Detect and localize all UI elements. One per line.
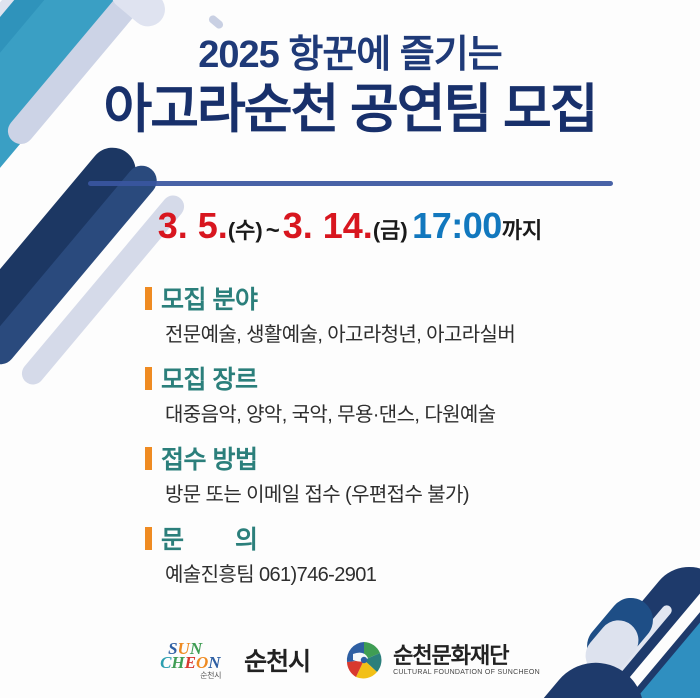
period-start-date: 3. 5. xyxy=(158,205,228,246)
suncheon-wordmark-icon: SUN CHEON 순천시 xyxy=(160,638,238,682)
title-line-1: 2025 항꾼에 즐기는 xyxy=(0,34,700,78)
section-title: 모집 장르 xyxy=(161,360,257,396)
section-header: 모집 분야 xyxy=(145,283,515,313)
suncheon-city-logo: SUN CHEON 순천시 순천시 xyxy=(160,638,310,682)
section-recruit-field: 모집 분야 전문예술, 생활예술, 아고라청년, 아고라실버 xyxy=(145,283,515,347)
section-recruit-genre: 모집 장르 대중음악, 양악, 국악, 무용·댄스, 다원예술 xyxy=(145,363,515,427)
bullet-bar-icon xyxy=(145,367,152,390)
foundation-name-en: CULTURAL FOUNDATION OF SUNCHEON xyxy=(393,669,540,676)
decoration-top-dash xyxy=(207,14,224,30)
section-contact: 문 의 예술진흥팀 061)746-2901 xyxy=(145,523,515,587)
section-header: 문 의 xyxy=(145,523,515,553)
period-end-date: 3. 14. xyxy=(283,205,373,246)
decoration-top-blob xyxy=(104,0,172,33)
section-header: 접수 방법 xyxy=(145,443,515,473)
section-header: 모집 장르 xyxy=(145,363,515,393)
section-body: 방문 또는 이메일 접수 (우편접수 불가) xyxy=(165,478,515,507)
section-body: 대중음악, 양악, 국악, 무용·댄스, 다원예술 xyxy=(165,398,515,427)
section-title: 문 의 xyxy=(161,520,280,556)
period-end-day: (금) xyxy=(373,218,408,243)
stripe-navy-2 xyxy=(0,160,163,371)
section-body: 예술진흥팀 061)746-2901 xyxy=(165,558,515,587)
foundation-name-kr: 순천문화재단 xyxy=(393,644,540,667)
footer-logos: SUN CHEON 순천시 순천시 xyxy=(0,638,700,682)
suncheon-foundation-logo: 순천문화재단 CULTURAL FOUNDATION OF SUNCHEON xyxy=(344,640,540,680)
poster-canvas: 2025 항꾼에 즐기는 아고라순천 공연팀 모집 3. 5.(수)~3. 14… xyxy=(0,0,700,698)
section-title: 모집 분야 xyxy=(161,280,257,316)
stripe-navy-1 xyxy=(0,138,145,397)
bullet-bar-icon xyxy=(145,527,152,550)
period-deadline-suffix: 까지 xyxy=(502,218,542,243)
application-period: 3. 5.(수)~3. 14.(금) 17:00까지 xyxy=(0,205,700,247)
period-tilde: ~ xyxy=(263,217,283,244)
section-title: 접수 방법 xyxy=(161,440,257,476)
foundation-name-block: 순천문화재단 CULTURAL FOUNDATION OF SUNCHEON xyxy=(393,644,540,676)
bullet-bar-icon xyxy=(145,287,152,310)
period-deadline-time: 17:00 xyxy=(412,205,502,246)
section-application-method: 접수 방법 방문 또는 이메일 접수 (우편접수 불가) xyxy=(145,443,515,507)
title-divider xyxy=(88,181,613,186)
poster-title: 2025 항꾼에 즐기는 아고라순천 공연팀 모집 xyxy=(0,34,700,141)
suncheon-city-name: 순천시 xyxy=(244,642,310,678)
bullet-bar-icon xyxy=(145,447,152,470)
info-sections: 모집 분야 전문예술, 생활예술, 아고라청년, 아고라실버 모집 장르 대중음… xyxy=(145,283,515,587)
period-start-day: (수) xyxy=(228,218,263,243)
section-body: 전문예술, 생활예술, 아고라청년, 아고라실버 xyxy=(165,318,515,347)
foundation-pinwheel-icon xyxy=(344,640,384,680)
wordmark-subtitle: 순천시 xyxy=(200,670,221,681)
title-line-2: 아고라순천 공연팀 모집 xyxy=(0,80,700,141)
